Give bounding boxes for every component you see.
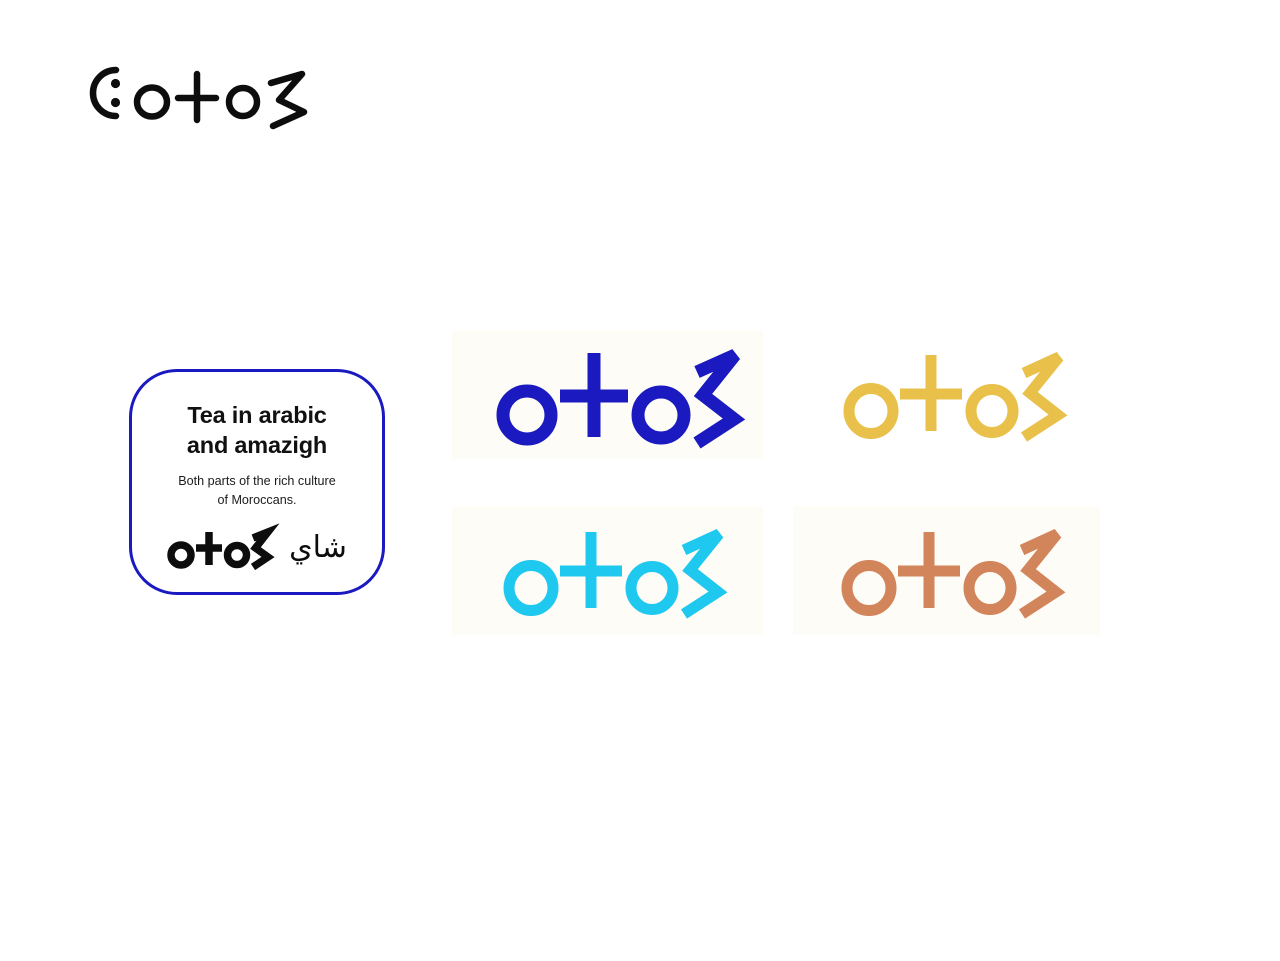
card-bilingual-row: ⵓⵜⵓⴽ شاي <box>148 526 366 570</box>
tifinagh-logo-icon-terracotta <box>839 525 1061 619</box>
card-subtext: Both parts of the rich culture of Morocc… <box>178 472 336 510</box>
tifinagh-wordmark-icon <box>80 58 340 128</box>
logo-variant-blue[interactable]: ⵓⵜⵓⴽ <box>452 330 763 459</box>
info-card: Tea in arabic and amazigh Both parts of … <box>129 369 385 595</box>
card-arabic-word: شاي <box>289 533 347 563</box>
tifinagh-logo-icon-blue <box>494 345 740 449</box>
tifinagh-logo-icon-gold <box>841 348 1063 442</box>
logo-variant-terracotta[interactable]: ⵓⵜⵓⴽ <box>793 506 1100 635</box>
tifinagh-logo-icon-cyan <box>501 525 723 619</box>
logo-variant-gold[interactable]: ⵓⵜⵓⴽ <box>793 330 1100 459</box>
card-heading: Tea in arabic and amazigh <box>187 400 327 460</box>
card-tifinagh-word: ⵓⵜⵓⴽ <box>167 526 271 570</box>
logo-variant-cyan[interactable]: ⵓⵜⵓⴽ <box>452 506 763 635</box>
card-tifinagh-icon <box>167 526 271 570</box>
brand-wordmark: ⵛⵓⵜⵓⴽ <box>80 58 340 128</box>
